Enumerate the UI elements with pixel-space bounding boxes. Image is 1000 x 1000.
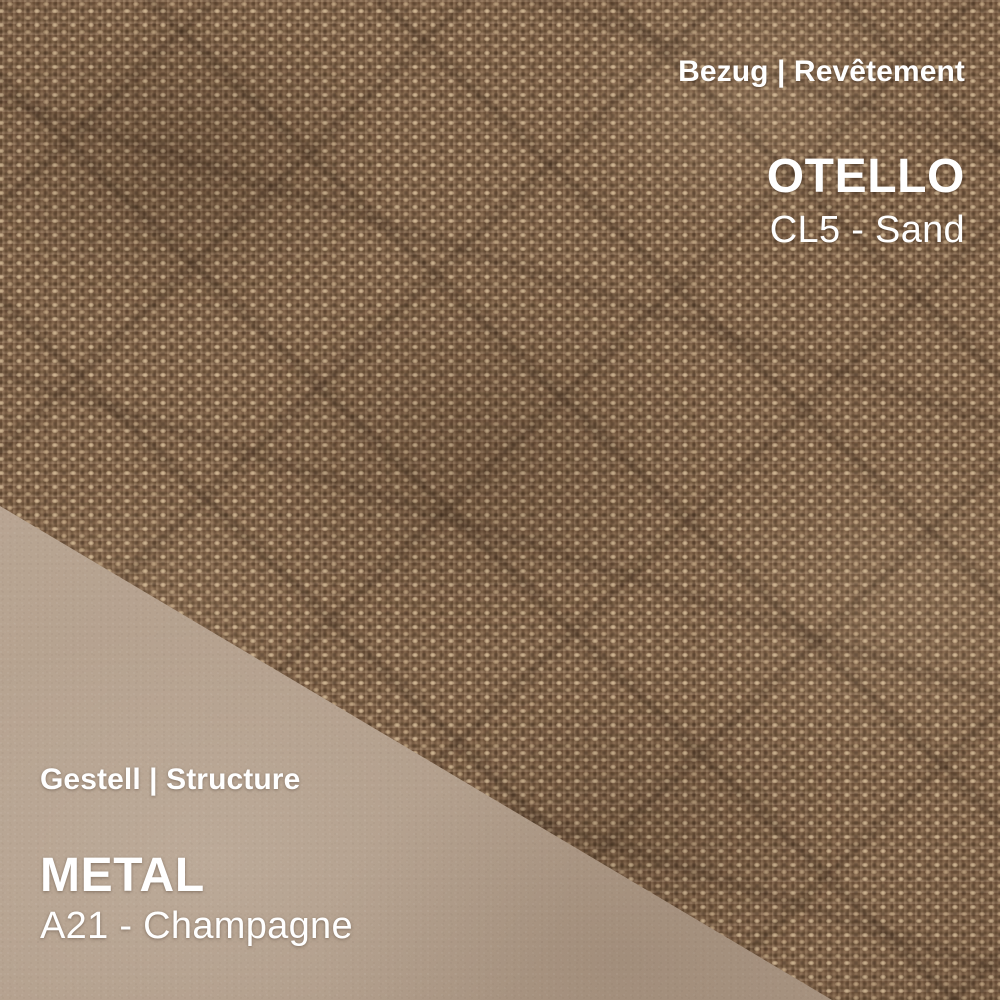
frame-material-name: METAL [40, 851, 353, 902]
upholstery-material-name: OTELLO [678, 152, 965, 203]
frame-label-group: Gestell | Structure METAL A21 - Champagn… [40, 764, 353, 948]
frame-material-code: A21 - Champagne [40, 905, 353, 948]
upholstery-category-label: Bezug | Revêtement [678, 56, 965, 88]
upholstery-material-code: CL5 - Sand [678, 209, 965, 252]
frame-category-label: Gestell | Structure [40, 764, 353, 796]
upholstery-label-group: Bezug | Revêtement OTELLO CL5 - Sand [678, 56, 965, 252]
material-swatch-card: Bezug | Revêtement OTELLO CL5 - Sand Ges… [0, 0, 1000, 1000]
